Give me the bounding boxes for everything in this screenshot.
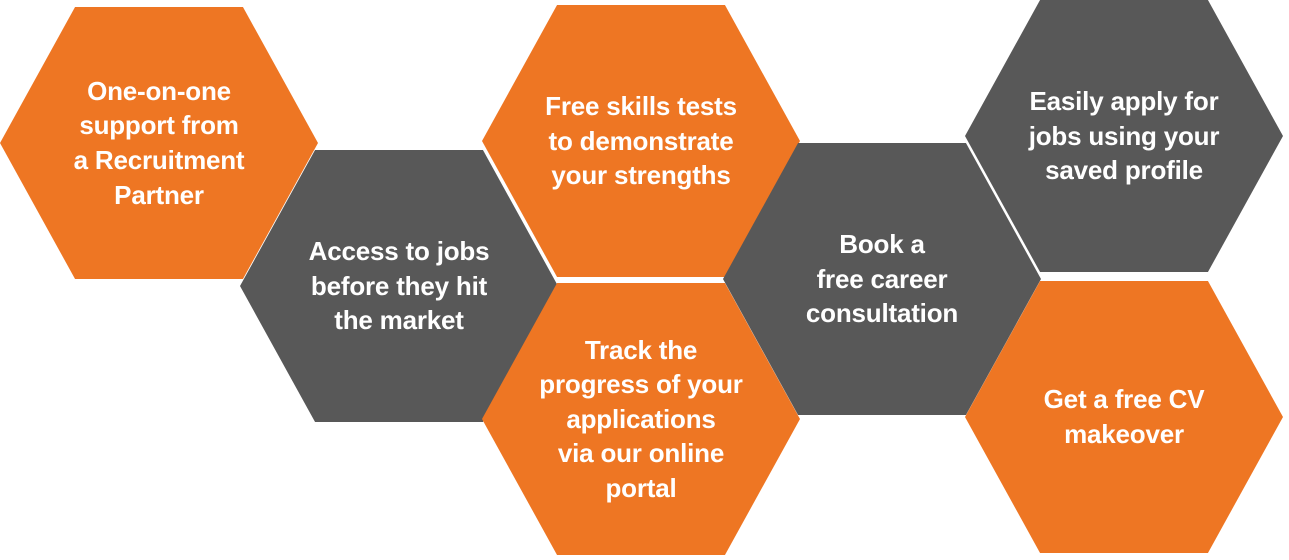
hexagon-label: Easily apply for jobs using your saved p… [1019,84,1229,188]
hexagon-benefits-infographic: One-on-one support from a Recruitment Pa… [0,0,1289,560]
hexagon-label: Access to jobs before they hit the marke… [294,234,504,338]
hexagon-label: Get a free CV makeover [1019,382,1229,451]
hexagon-label: One-on-one support from a Recruitment Pa… [54,74,264,212]
hexagon-label: Free skills tests to demonstrate your st… [536,89,746,193]
hexagon-label: Book a free career consultation [777,227,987,331]
hexagon-label: Track the progress of your applications … [536,333,746,506]
